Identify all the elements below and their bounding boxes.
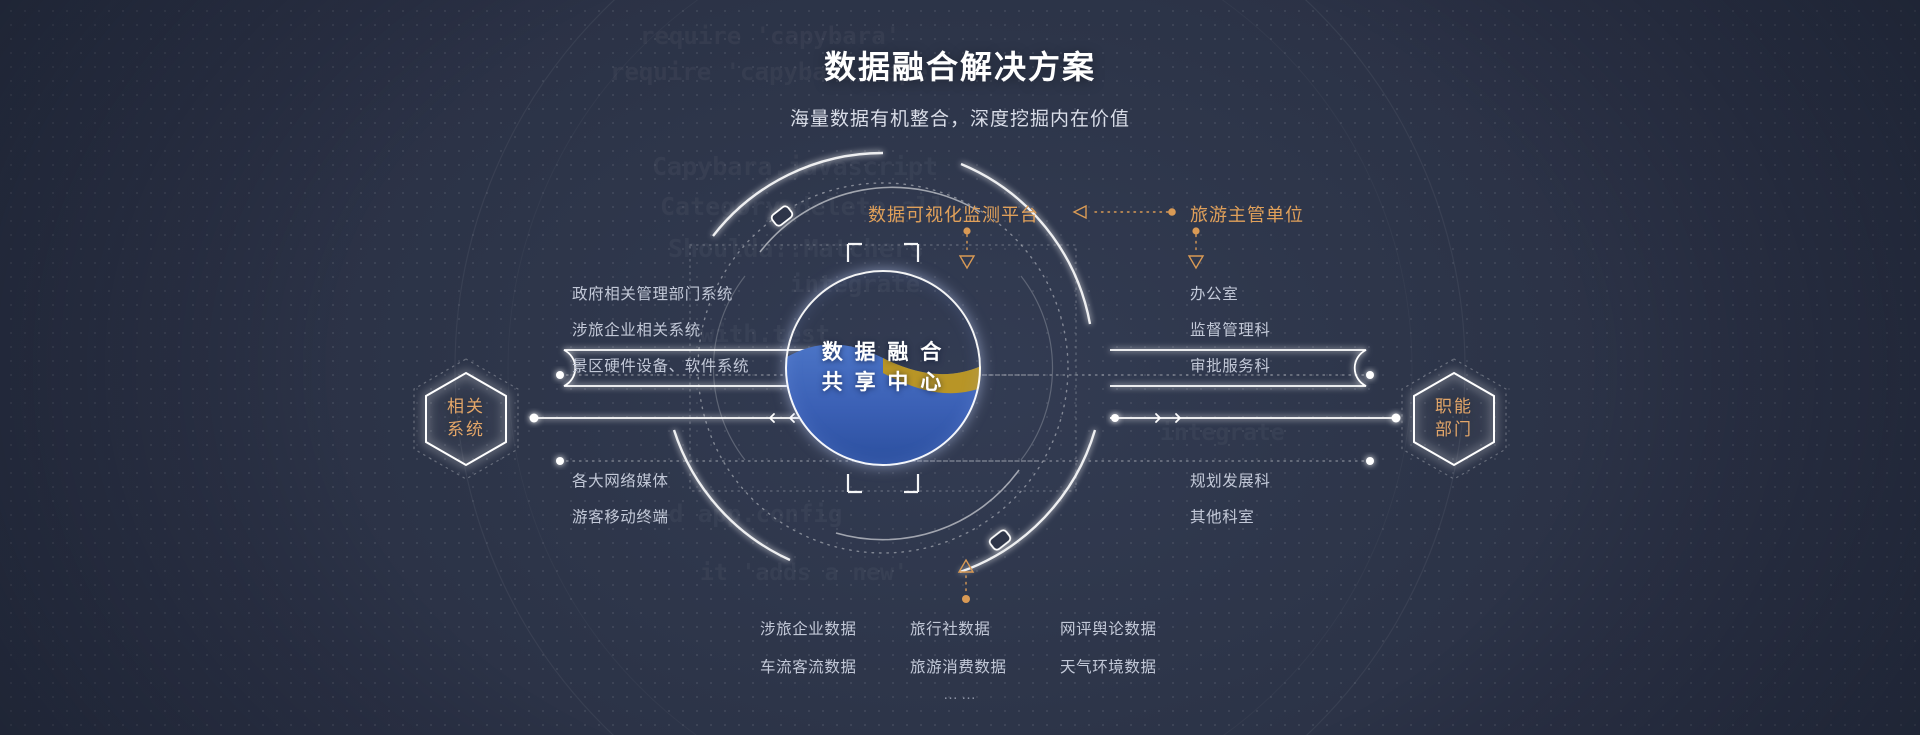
label-left-lower-1: 各大网络媒体 (572, 469, 669, 491)
diagram-canvas: require 'capybara' require 'capybara/rsp… (0, 0, 1920, 735)
label-bottom-r2c1: 车流客流数据 (760, 655, 857, 677)
hex-label-line1: 职能 (1435, 396, 1473, 419)
label-visualization-platform[interactable]: 数据可视化监测平台 (868, 201, 1039, 227)
label-bottom-more: …… (943, 686, 979, 703)
label-left-upper-2: 涉旅企业相关系统 (572, 318, 701, 340)
label-left-upper-3: 景区硬件设备、软件系统 (572, 354, 749, 376)
hex-label-line2: 系统 (447, 419, 485, 442)
label-right-upper-3: 审批服务科 (1190, 354, 1271, 376)
label-tourism-authority[interactable]: 旅游主管单位 (1190, 201, 1304, 227)
hex-node-related-systems[interactable]: 相关 系统 (410, 357, 522, 481)
label-bottom-r1c3: 网评舆论数据 (1060, 617, 1157, 639)
arrow-left-icon (1074, 206, 1086, 218)
label-bottom-r1c1: 涉旅企业数据 (760, 617, 857, 639)
hex-label-line2: 部门 (1435, 419, 1473, 442)
hex-label: 相关 系统 (410, 357, 522, 481)
core-label-line2: 共 享 中 心 (822, 368, 945, 398)
label-right-upper-1: 办公室 (1190, 282, 1238, 304)
label-bottom-r2c2: 旅游消费数据 (910, 655, 1007, 677)
label-left-upper-1: 政府相关管理部门系统 (572, 282, 733, 304)
core-label-line1: 数 据 融 合 (822, 338, 945, 368)
hex-node-functional-departments[interactable]: 职能 部门 (1398, 357, 1510, 481)
label-right-upper-2: 监督管理科 (1190, 318, 1271, 340)
hex-label: 职能 部门 (1398, 357, 1510, 481)
label-right-lower-2: 其他科室 (1190, 505, 1254, 527)
page-subtitle: 海量数据有机整合，深度挖掘内在价值 (0, 104, 1920, 131)
label-left-lower-2: 游客移动终端 (572, 505, 669, 527)
page-title: 数据融合解决方案 (0, 42, 1920, 88)
label-bottom-r1c2: 旅行社数据 (910, 617, 991, 639)
core-label: 数 据 融 合 共 享 中 心 (822, 338, 945, 398)
label-bottom-r2c3: 天气环境数据 (1060, 655, 1157, 677)
label-right-lower-1: 规划发展科 (1190, 469, 1271, 491)
hex-label-line1: 相关 (447, 396, 485, 419)
